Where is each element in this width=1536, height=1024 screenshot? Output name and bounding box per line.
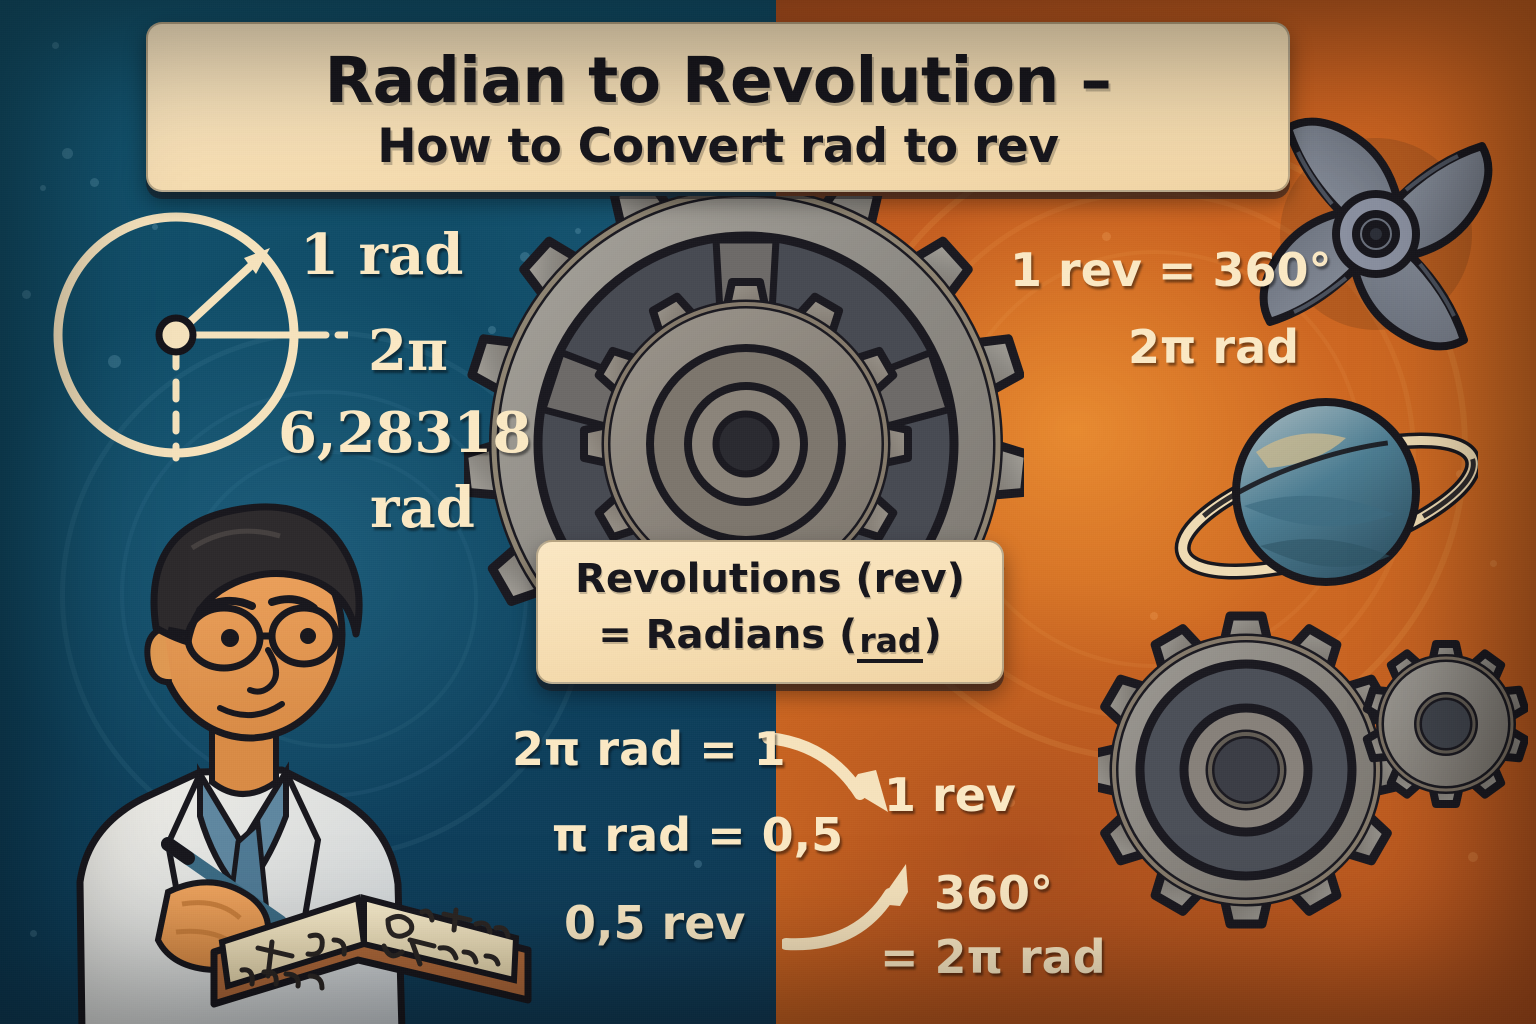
conversion-right-line-3: = 2π rad bbox=[880, 930, 1106, 984]
formula-fraction-numerator: rad bbox=[857, 624, 923, 663]
infographic-canvas: 1 rad 2π 6,28318 rad 1 rev = 360° 2π rad… bbox=[0, 0, 1536, 1024]
background-speck bbox=[1490, 560, 1497, 567]
background-speck bbox=[108, 355, 121, 368]
formula-equals: = bbox=[598, 612, 632, 658]
background-speck bbox=[152, 224, 158, 230]
label-two-pi: 2π bbox=[368, 318, 448, 384]
conversion-right-line-1: 1 rev bbox=[884, 768, 1016, 822]
background-speck bbox=[40, 185, 46, 191]
formula-card: Revolutions (rev) = Radians (rad) bbox=[536, 540, 1004, 684]
background-speck bbox=[62, 148, 73, 159]
formula-line-2: = Radians (rad) bbox=[538, 612, 1002, 663]
conversion-left-line-3: 0,5 rev bbox=[564, 896, 745, 950]
background-speck bbox=[1102, 232, 1111, 241]
label-rev-radians: 2π rad bbox=[1128, 320, 1299, 374]
background-speck bbox=[90, 178, 99, 187]
conversion-left-line-1: 2π rad = 1 bbox=[512, 722, 786, 776]
background-speck bbox=[1456, 470, 1464, 478]
background-speck bbox=[575, 228, 581, 234]
formula-term: Radians bbox=[646, 612, 825, 658]
formula-line-1: Revolutions (rev) bbox=[538, 556, 1002, 602]
page-subtitle: How to Convert rad to rev bbox=[148, 119, 1288, 174]
label-one-radian: 1 rad bbox=[300, 222, 463, 288]
formula-paren-close: ) bbox=[923, 612, 941, 658]
title-card: Radian to Revolution – How to Convert ra… bbox=[146, 22, 1290, 192]
background-speck bbox=[488, 326, 496, 334]
background-speck bbox=[520, 252, 530, 262]
conversion-right-line-2: 360° bbox=[934, 866, 1053, 920]
formula-paren-open: ( bbox=[839, 612, 857, 658]
page-title: Radian to Revolution – bbox=[148, 44, 1288, 117]
background-speck bbox=[1468, 852, 1478, 862]
label-rev-degrees: 1 rev = 360° bbox=[1010, 243, 1331, 297]
background-speck bbox=[52, 42, 59, 49]
background-speck bbox=[22, 290, 31, 299]
background-speck bbox=[1150, 612, 1158, 620]
label-radian-unit: rad bbox=[370, 475, 475, 541]
conversion-left-line-2: π rad = 0,5 bbox=[552, 808, 843, 862]
label-radian-value: 6,28318 bbox=[278, 400, 531, 466]
background-speck bbox=[710, 485, 719, 494]
background-speck bbox=[30, 930, 37, 937]
